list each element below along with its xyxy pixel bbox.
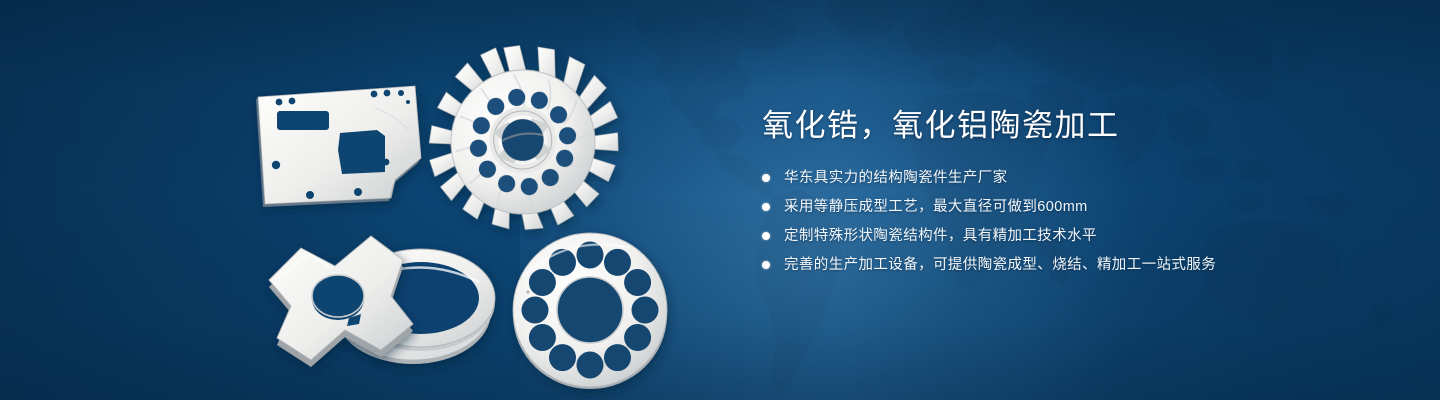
feature-text: 完善的生产加工设备，可提供陶瓷成型、烧结、精加工一站式服务 (784, 255, 1216, 275)
list-item: 华东具实力的结构陶瓷件生产厂家 (762, 168, 1382, 188)
bullet-dot-icon (762, 174, 770, 182)
ceramic-products-group (225, 30, 695, 380)
ceramic-cross-shaped-part (269, 236, 413, 367)
list-item: 采用等静压成型工艺，最大直径可做到600mm (762, 197, 1382, 217)
feature-text: 采用等静压成型工艺，最大直径可做到600mm (784, 197, 1088, 217)
list-item: 完善的生产加工设备，可提供陶瓷成型、烧结、精加工一站式服务 (762, 255, 1382, 275)
feature-text: 定制特殊形状陶瓷结构件，具有精加工技术水平 (784, 226, 1097, 246)
ceramic-machined-plate (256, 86, 421, 207)
feature-list: 华东具实力的结构陶瓷件生产厂家 采用等静压成型工艺，最大直径可做到600mm 定… (762, 168, 1382, 275)
feature-text: 华东具实力的结构陶瓷件生产厂家 (784, 168, 1008, 188)
bullet-dot-icon (762, 232, 770, 240)
ceramic-perforated-disc (513, 233, 667, 389)
page-title: 氧化锆，氧化铝陶瓷加工 (762, 106, 1382, 146)
list-item: 定制特殊形状陶瓷结构件，具有精加工技术水平 (762, 226, 1382, 246)
bullet-dot-icon (762, 203, 770, 211)
bullet-dot-icon (762, 261, 770, 269)
ceramic-impeller-disc (415, 32, 631, 242)
banner-copy: 氧化锆，氧化铝陶瓷加工 华东具实力的结构陶瓷件生产厂家 采用等静压成型工艺，最大… (762, 106, 1382, 275)
hero-banner: 氧化锆，氧化铝陶瓷加工 华东具实力的结构陶瓷件生产厂家 采用等静压成型工艺，最大… (0, 0, 1440, 400)
